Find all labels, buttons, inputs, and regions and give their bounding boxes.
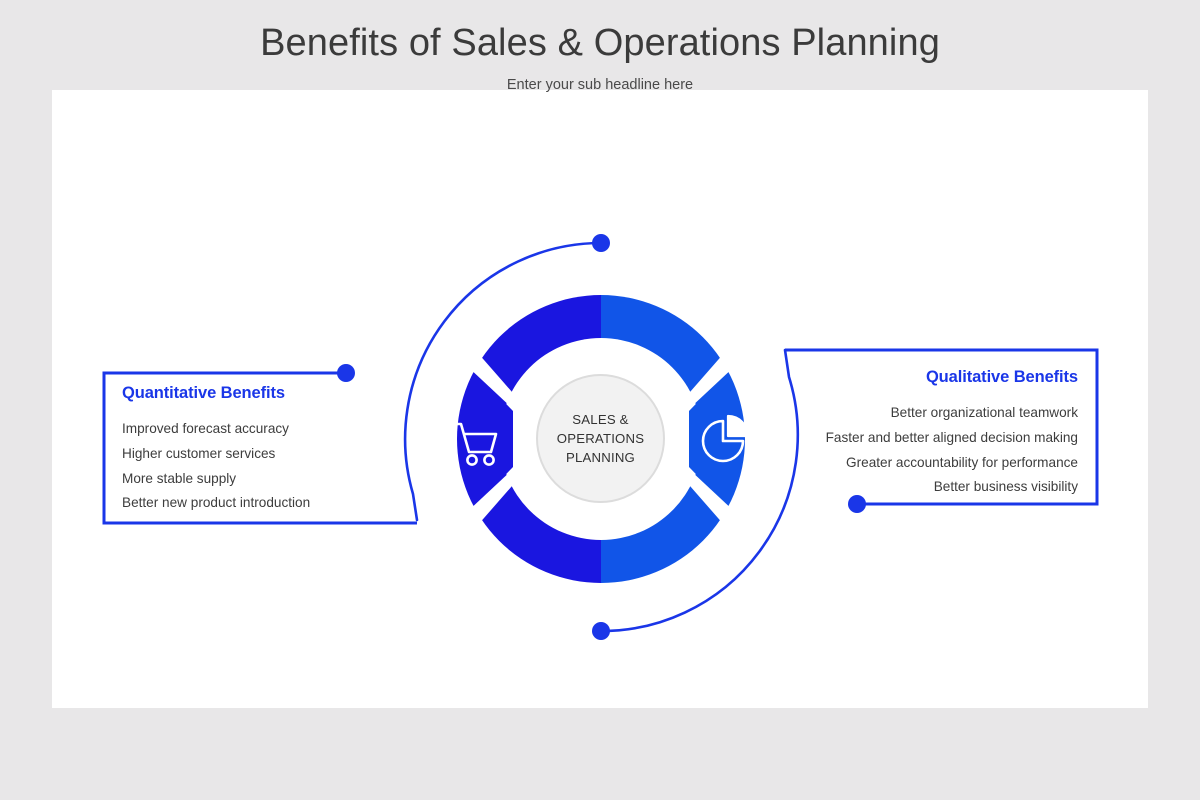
panel-right-item-3: Greater accountability for performance	[800, 451, 1078, 476]
panel-left-item-1: Improved forecast accuracy	[122, 417, 422, 442]
panel-right: Qualitative Benefits Better organization…	[800, 368, 1078, 500]
slide-header: Benefits of Sales & Operations Planning …	[0, 22, 1200, 93]
panel-right-item-4: Better business visibility	[800, 475, 1078, 500]
panel-left: Quantitative Benefits Improved forecast …	[122, 384, 422, 516]
panel-right-item-1: Better organizational teamwork	[800, 401, 1078, 426]
panel-left-item-4: Better new product introduction	[122, 491, 422, 516]
panel-left-item-2: Higher customer services	[122, 442, 422, 467]
panel-left-item-3: More stable supply	[122, 467, 422, 492]
slide-root: Benefits of Sales & Operations Planning …	[0, 0, 1200, 800]
panel-right-heading: Qualitative Benefits	[800, 368, 1078, 387]
center-hub: SALES & OPERATIONS PLANNING	[536, 374, 665, 503]
panel-right-item-2: Faster and better aligned decision makin…	[800, 426, 1078, 451]
panel-left-heading: Quantitative Benefits	[122, 384, 422, 403]
page-subtitle: Enter your sub headline here	[0, 77, 1200, 93]
page-title: Benefits of Sales & Operations Planning	[0, 22, 1200, 65]
center-hub-label: SALES & OPERATIONS PLANNING	[557, 410, 645, 467]
